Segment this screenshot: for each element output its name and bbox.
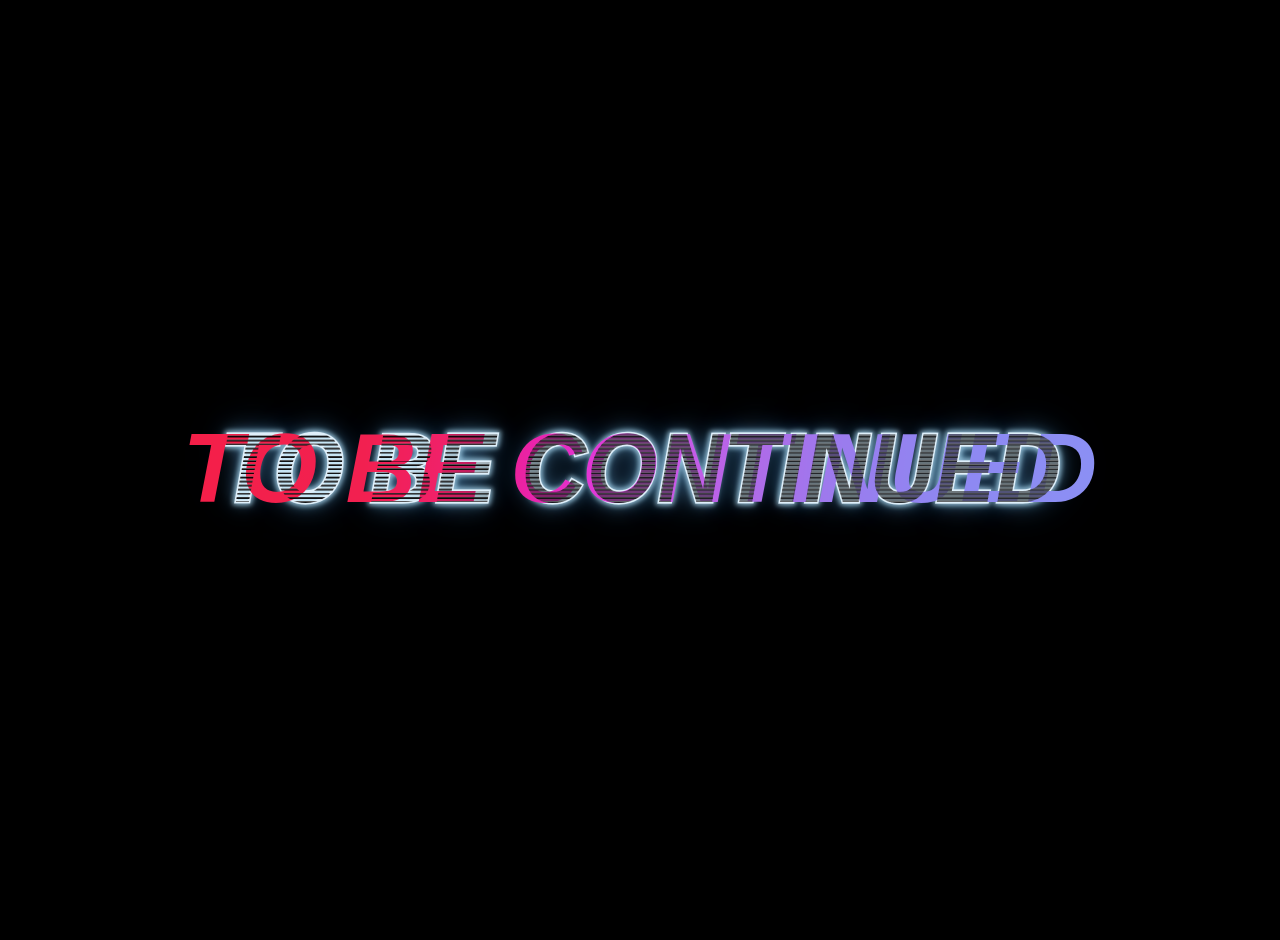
title-text-stack: TO BE CONTINUED TO BE CONTINUED TO BE CO… <box>183 419 1098 517</box>
title-card: TO BE CONTINUED TO BE CONTINUED TO BE CO… <box>0 0 1280 940</box>
title-card-screen: TO BE CONTINUED TO BE CONTINUED TO BE CO… <box>0 0 1280 940</box>
title-text: TO BE CONTINUED <box>183 413 1098 523</box>
